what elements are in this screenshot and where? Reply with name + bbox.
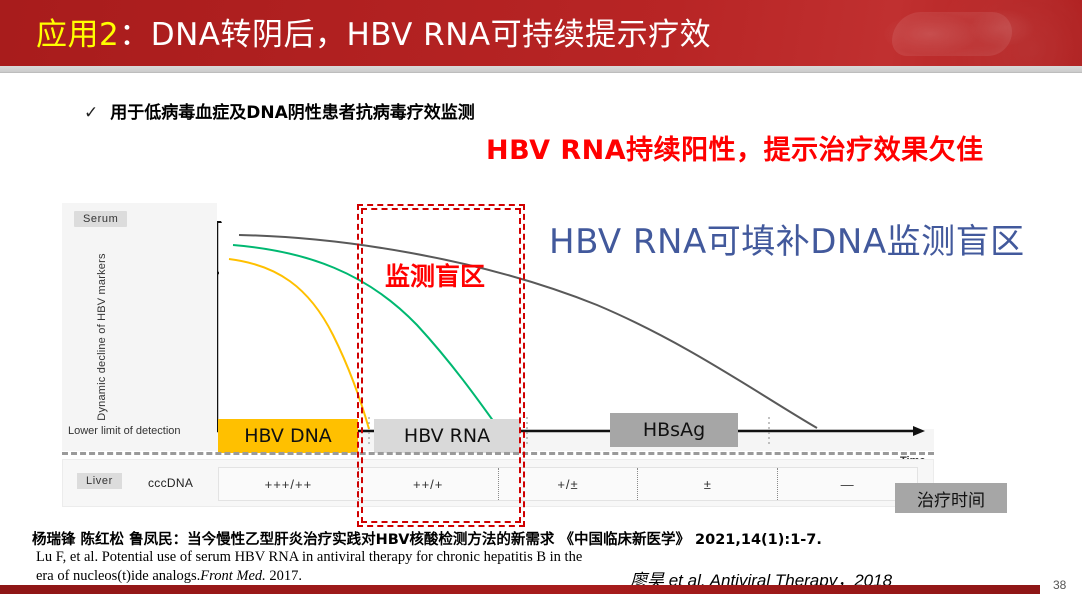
hbv-dna-curve [229, 259, 369, 429]
reference-en-journal: Front Med. [200, 568, 266, 584]
reference-en: Lu F, et al. Potential use of serum HBV … [36, 548, 596, 585]
page-title-rest: ：DNA转阴后，HBV RNA可持续提示疗效 [119, 17, 711, 53]
bullet-row: ✓ 用于低病毒血症及DNA阴性患者抗病毒疗效监测 [84, 98, 475, 123]
serum-panel-sidebar [62, 203, 217, 451]
y-axis-arrowhead [217, 221, 222, 223]
liver-illustration [872, 0, 1082, 66]
x-axis-arrowhead [913, 426, 925, 436]
blind-zone-label: 监测盲区 [385, 257, 485, 293]
cccdna-cell: +++/++ [219, 468, 359, 500]
check-icon: ✓ [84, 104, 98, 121]
serum-badge: Serum [74, 211, 127, 227]
blue-overlay-text: HBV RNA可填补DNA监测盲区 [549, 214, 1025, 263]
page-title-highlight: 应用2 [36, 17, 119, 53]
marker-chip-hbsag: HBsAg [610, 413, 738, 447]
page-title: 应用2：DNA转阴后，HBV RNA可持续提示疗效 [36, 9, 711, 54]
page-number: 38 [1053, 578, 1066, 592]
y-axis-label: Dynamic decline of HBV markers [96, 253, 108, 421]
liver-badge: Liver [77, 473, 122, 489]
bullet-label: 用于低病毒血症及DNA阴性患者抗病毒疗效监测 [110, 98, 475, 123]
marker-chip-hbv-dna: HBV DNA [218, 419, 358, 453]
reference-cn-1: 杨瑞锋 陈红松 鲁凤民：当今慢性乙型肝炎治疗实践对HBV核酸检测方法的新需求 《… [32, 528, 822, 549]
cccdna-cell: ± [638, 468, 778, 500]
blind-zone-rectangle [357, 204, 525, 527]
lower-limit-label: Lower limit of detection [68, 425, 181, 437]
slide-header-banner: 应用2：DNA转阴后，HBV RNA可持续提示疗效 [0, 0, 1082, 66]
red-headline: HBV RNA持续阳性，提示治疗效果欠佳 [486, 128, 984, 167]
treatment-time-callout: 治疗时间 [895, 483, 1007, 513]
footer-bar [0, 585, 1040, 594]
cccdna-level-row: +++/++ ++/+ +/± ± — [218, 467, 918, 501]
reference-en-text: Lu F, et al. Potential use of serum HBV … [36, 549, 582, 584]
reference-en-year: 2017. [266, 568, 302, 584]
header-divider [0, 66, 1082, 73]
cccdna-label: cccDNA [148, 476, 193, 490]
